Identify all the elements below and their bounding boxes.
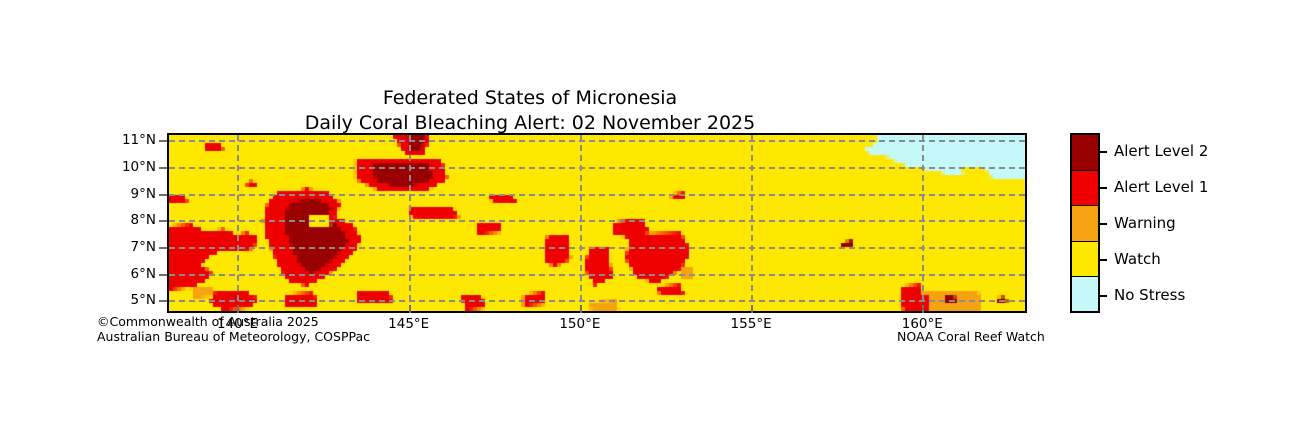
legend-tick-4 [1098, 295, 1107, 297]
legend-label-2: Warning [1114, 215, 1176, 231]
y-tick-label-6: 6°N [96, 267, 156, 281]
credit-bom-line-1: ©Commonwealth of Australia 2025 [97, 314, 370, 329]
y-tick-9 [159, 194, 167, 196]
credit-bom-line-2: Australian Bureau of Meteorology, COSPPa… [97, 329, 370, 344]
x-tick-label-150: 150°E [559, 317, 600, 331]
legend-swatch-4 [1072, 276, 1098, 311]
legend-tick-2 [1098, 223, 1107, 225]
legend-swatch-1 [1072, 170, 1098, 205]
legend-label-3: Watch [1114, 251, 1161, 267]
coral-alert-heatmap [169, 135, 1025, 311]
legend-label-0: Alert Level 2 [1114, 143, 1208, 159]
legend-tick-1 [1098, 187, 1107, 189]
credit-noaa: NOAA Coral Reef Watch [897, 329, 1045, 344]
y-tick-10 [159, 167, 167, 169]
x-tick-140 [237, 305, 239, 313]
y-tick-7 [159, 247, 167, 249]
x-tick-160 [922, 305, 924, 313]
x-tick-145 [409, 305, 411, 313]
y-tick-label-7: 7°N [96, 240, 156, 254]
y-tick-label-5: 5°N [96, 293, 156, 307]
page-title: Federated States of Micronesia Daily Cor… [0, 86, 1060, 136]
x-tick-150 [580, 305, 582, 313]
credit-bom: ©Commonwealth of Australia 2025 Australi… [97, 314, 370, 344]
legend-label-1: Alert Level 1 [1114, 179, 1208, 195]
x-tick-label-145: 145°E [388, 317, 429, 331]
legend-label-4: No Stress [1114, 287, 1185, 303]
y-tick-label-10: 10°N [96, 160, 156, 174]
legend-swatch-3 [1072, 241, 1098, 276]
x-tick-155 [751, 305, 753, 313]
legend-colorbar [1070, 133, 1100, 313]
y-tick-8 [159, 220, 167, 222]
legend-swatch-2 [1072, 205, 1098, 240]
legend-swatch-0 [1072, 135, 1098, 170]
title-line-1: Federated States of Micronesia [383, 87, 677, 109]
y-tick-5 [159, 300, 167, 302]
legend-tick-3 [1098, 259, 1107, 261]
y-tick-label-11: 11°N [96, 133, 156, 147]
y-tick-11 [159, 140, 167, 142]
y-tick-6 [159, 274, 167, 276]
x-tick-label-155: 155°E [731, 317, 772, 331]
y-tick-label-8: 8°N [96, 213, 156, 227]
y-tick-label-9: 9°N [96, 187, 156, 201]
map-plot-area[interactable] [167, 133, 1027, 313]
legend-tick-0 [1098, 151, 1107, 153]
coral-bleaching-alert-figure: Federated States of Micronesia Daily Cor… [0, 0, 1293, 447]
